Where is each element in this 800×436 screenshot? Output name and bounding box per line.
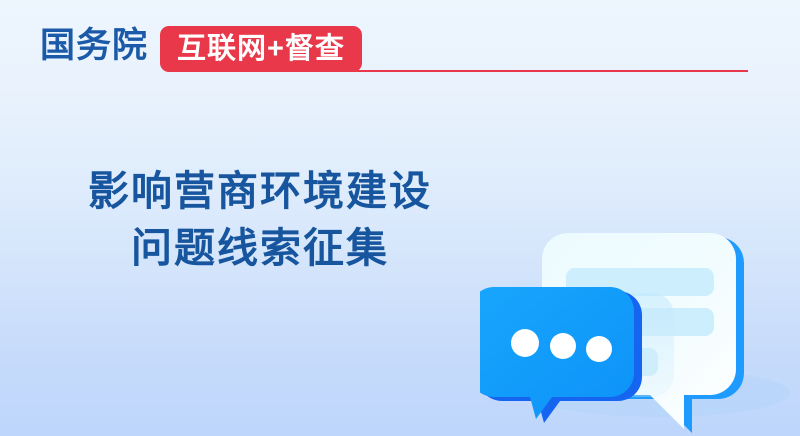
header-divider-line xyxy=(352,70,748,72)
page-title-line-1: 影响营商环境建设 xyxy=(0,163,520,220)
brand-title: 国务院 xyxy=(40,24,148,68)
page-title: 影响营商环境建设 问题线索征集 xyxy=(0,163,520,277)
small-bubble-dot-1 xyxy=(511,329,539,357)
chat-bubbles-illustration xyxy=(480,215,800,436)
topic-badge-label: 互联网+督查 xyxy=(177,26,345,72)
small-bubble-dot-2 xyxy=(550,333,576,359)
small-bubble-dot-3 xyxy=(586,336,612,362)
poster-canvas: 国务院 互联网+督查 影响营商环境建设 问题线索征集 xyxy=(0,0,800,436)
topic-badge: 互联网+督查 xyxy=(160,26,362,72)
header-bar: 国务院 互联网+督查 xyxy=(0,0,800,90)
page-title-line-2: 问题线索征集 xyxy=(0,220,520,277)
